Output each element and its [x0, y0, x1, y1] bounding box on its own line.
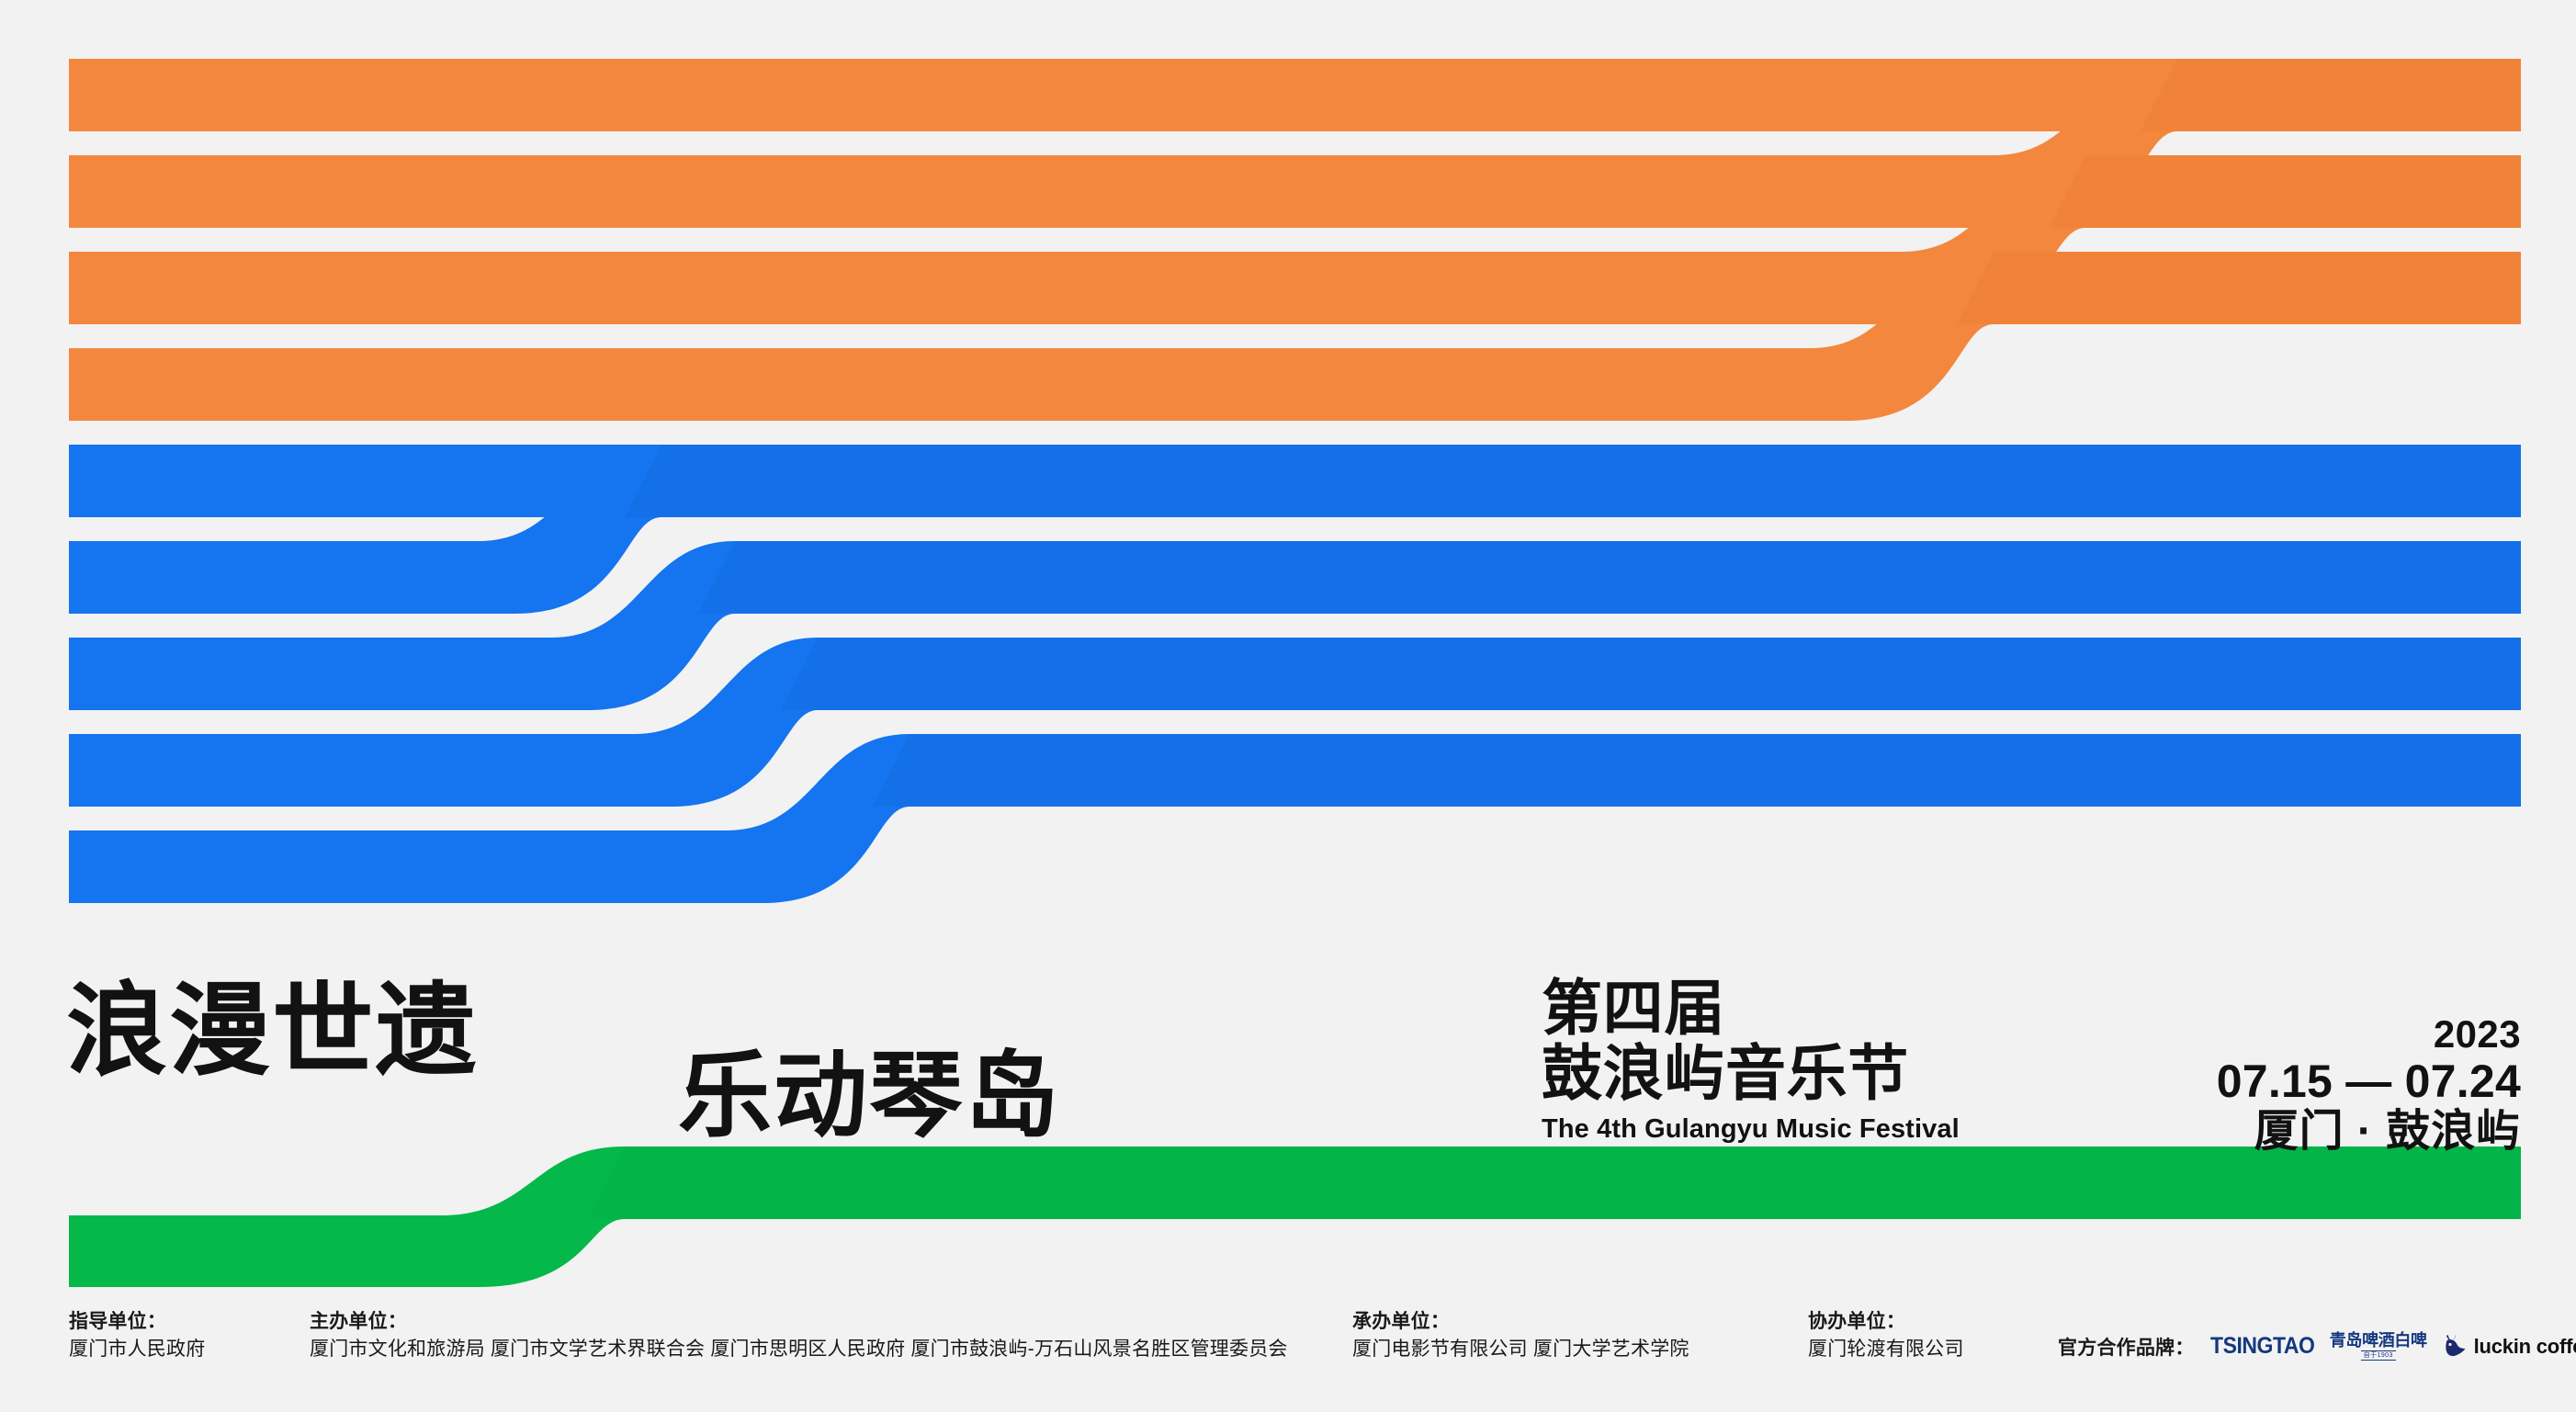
credit-co-organiser-label: 协办单位： [1808, 1308, 1964, 1336]
credit-host-value: 厦门市文化和旅游局 厦门市文学艺术界联合会 厦门市思明区人民政府 厦门市鼓浪屿-… [310, 1336, 1288, 1363]
luckin-wordmark: luckin coffee [2474, 1335, 2576, 1359]
wave-stripes-graphic [0, 0, 2576, 1412]
luckin-logo[interactable]: luckin coffee [2444, 1334, 2576, 1360]
stripe-blue-6-shadow [698, 541, 2521, 614]
stripe-orange-3-shadow [1957, 252, 2521, 324]
credit-organiser: 承办单位： 厦门电影节有限公司 厦门大学艺术学院 [1352, 1308, 1689, 1364]
date-location-block: 2023 07.15 — 07.24 厦门 · 鼓浪屿 [2217, 1014, 2521, 1156]
festival-name-block: 第四届 鼓浪屿音乐节 The 4th Gulangyu Music Festiv… [1542, 976, 1960, 1145]
footer-credits: 指导单位： 厦门市人民政府 主办单位： 厦门市文化和旅游局 厦门市文学艺术界联合… [0, 1308, 2576, 1412]
credit-host-label: 主办单位： [310, 1308, 1288, 1336]
credit-guidance-value: 厦门市人民政府 [69, 1336, 205, 1363]
stripe-orange-1-shadow [2141, 59, 2521, 131]
festival-name-en: The 4th Gulangyu Music Festival [1542, 1114, 1960, 1145]
festival-location: 厦门 · 鼓浪屿 [2217, 1107, 2521, 1157]
headline-line-b: 乐动琴岛 [678, 1049, 1060, 1143]
festival-year: 2023 [2217, 1014, 2521, 1056]
stripe-blue-8-shadow [873, 734, 2521, 807]
festival-date-range: 07.15 — 07.24 [2217, 1056, 2521, 1107]
official-brands: 官方合作品牌： TSINGTAO 青岛啤酒白啤 自于1903 [2058, 1332, 2576, 1361]
tsingtao-cn-block: 青岛啤酒白啤 自于1903 [2330, 1332, 2427, 1361]
credit-co-organiser: 协办单位： 厦门轮渡有限公司 [1808, 1308, 1964, 1364]
tsingtao-wordmark: TSINGTAO [2210, 1333, 2314, 1360]
stripe-orange-2-shadow [2049, 155, 2521, 228]
festival-name-cn: 鼓浪屿音乐节 [1542, 1041, 1960, 1106]
poster-canvas: 浪漫世遗 乐动琴岛 第四届 鼓浪屿音乐节 The 4th Gulangyu Mu… [0, 0, 2576, 1412]
stripe-green-shadow [588, 1147, 2521, 1219]
tsingtao-cn-sub: 自于1903 [2361, 1350, 2396, 1361]
credit-organiser-label: 承办单位： [1352, 1308, 1689, 1336]
credit-guidance-label: 指导单位： [69, 1308, 205, 1336]
official-brands-label: 官方合作品牌： [2058, 1333, 2194, 1361]
stripe-blue-5-shadow [625, 445, 2521, 517]
credit-organiser-value: 厦门电影节有限公司 厦门大学艺术学院 [1352, 1336, 1689, 1363]
headline-line-a: 浪漫世遗 [66, 981, 479, 1082]
tsingtao-cn-name: 青岛啤酒白啤 [2330, 1332, 2427, 1349]
stripe-blue-7-shadow [781, 638, 2521, 710]
credit-guidance: 指导单位： 厦门市人民政府 [69, 1308, 205, 1364]
deer-head-icon [2444, 1334, 2468, 1360]
credit-host: 主办单位： 厦门市文化和旅游局 厦门市文学艺术界联合会 厦门市思明区人民政府 厦… [310, 1308, 1288, 1364]
credit-co-organiser-value: 厦门轮渡有限公司 [1808, 1336, 1964, 1363]
festival-edition: 第四届 [1542, 976, 1960, 1041]
tsingtao-logo[interactable]: TSINGTAO 青岛啤酒白啤 自于1903 [2210, 1332, 2426, 1361]
